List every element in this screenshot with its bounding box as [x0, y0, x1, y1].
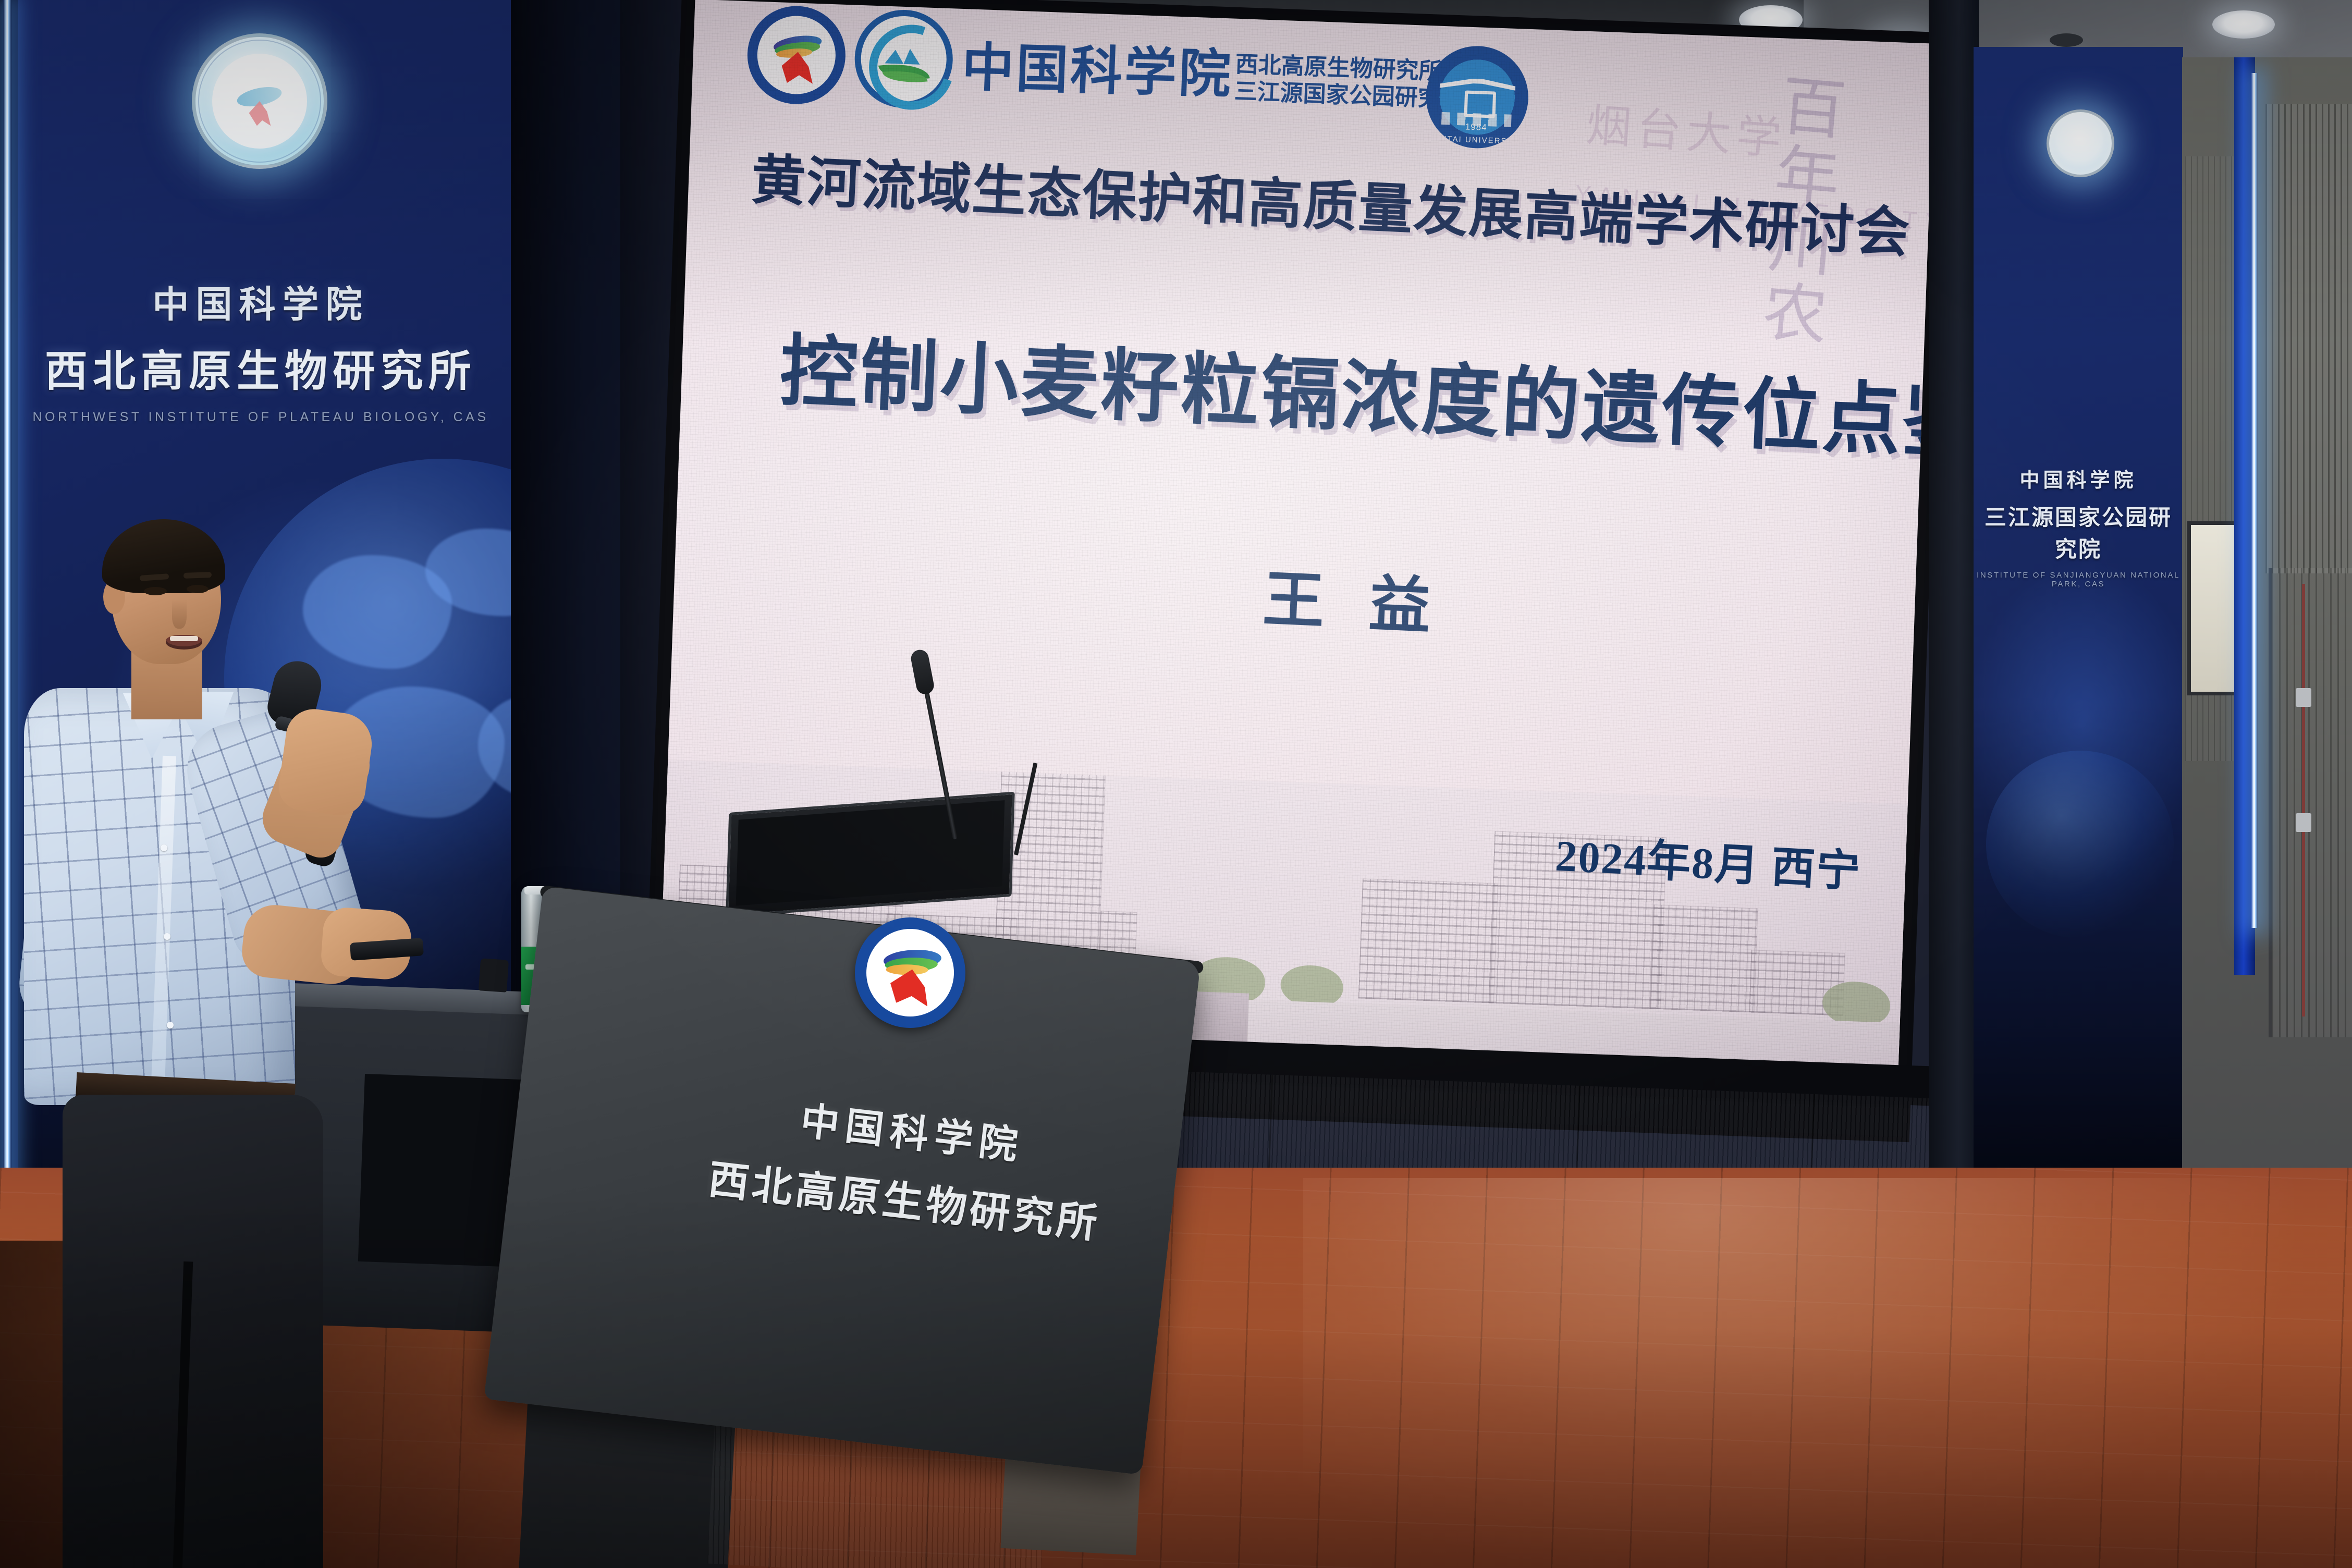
- conference-room-scene: 中国科学院 西北高原生物研究所 NORTHWEST INSTITUTE OF P…: [0, 0, 2352, 1568]
- right-wall-sign: 中国科学院 三江源国家公园研究院 INSTITUTE OF SANJIANGYU…: [1977, 464, 2180, 589]
- speaker-right-hand: [276, 705, 376, 818]
- right-wall-emblem-disc-icon: [2047, 109, 2114, 177]
- lenovo-laptop[interactable]: Lenovo: [726, 792, 1015, 917]
- downlight-4-icon: [2212, 10, 2275, 39]
- shirt-button: [167, 1022, 174, 1028]
- left-wall-emblem-disc-icon: [192, 33, 327, 169]
- downlight-1-icon: [1739, 5, 1803, 34]
- right-wall-shading: [1974, 47, 2183, 1173]
- presentation-main-title: 控制小麦籽粒镉浓度的遗传位点鉴定: [778, 308, 1935, 477]
- speaker-trousers: [63, 1095, 323, 1568]
- door-hinge-icon: [2296, 813, 2311, 832]
- blue-led-strip-right-icon: [2251, 73, 2258, 928]
- right-door[interactable]: [2269, 568, 2352, 1037]
- yantai-founding-year: 1984: [1425, 120, 1527, 134]
- left-wall-org-en: NORTHWEST INSTITUTE OF PLATEAU BIOLOGY, …: [31, 410, 490, 425]
- left-wall-org-line2: 西北高原生物研究所: [31, 336, 490, 398]
- slide-logo-row: 中国科学院 西北高原生物研究所 三江源国家公园研究院: [746, 4, 1466, 128]
- right-wall-org-en: INSTITUTE OF SANJIANGYUAN NATIONAL PARK,…: [1977, 571, 2180, 589]
- right-ribbed-wall-panel: [2265, 104, 2352, 573]
- speaker-nose: [172, 599, 187, 629]
- nwipb-emblem-icon: [746, 4, 848, 106]
- watermark-yantai-cn: 烟台大学: [1585, 88, 1789, 167]
- ceiling-speaker-grill-icon: [2050, 33, 2083, 47]
- slide-cas-wordmark: 中国科学院: [961, 24, 1234, 107]
- left-wall-org-line1: 中国科学院: [31, 275, 490, 328]
- dark-column-right: [1929, 0, 1979, 1199]
- right-door-seam: [2302, 584, 2305, 1016]
- presenter-name: 王 益: [1261, 549, 1448, 646]
- speaker-eye-left: [144, 587, 167, 595]
- microphone-base-icon: [479, 958, 509, 993]
- floor-light-reflection: [1303, 1178, 2294, 1568]
- shirt-button: [164, 933, 170, 940]
- right-wall-org-line1: 中国科学院: [1977, 464, 2180, 493]
- shirt-button: [161, 844, 167, 851]
- laptop-screen: [736, 800, 1005, 905]
- blue-led-strip-left-icon: [3, 0, 11, 1345]
- left-wall-sign: 中国科学院 西北高原生物研究所 NORTHWEST INSTITUTE OF P…: [31, 275, 490, 425]
- speaker-teeth: [170, 636, 198, 641]
- speaker-eyebrow-right: [183, 572, 212, 579]
- speaker-eye-right: [187, 585, 209, 593]
- sanjiangyuan-emblem-icon: [853, 8, 954, 110]
- right-wall-org-line2: 三江源国家公园研究院: [1977, 500, 2180, 563]
- yantai-en-label: YANTAI UNIVERSITY: [1425, 134, 1527, 146]
- door-hinge-icon: [2296, 688, 2311, 707]
